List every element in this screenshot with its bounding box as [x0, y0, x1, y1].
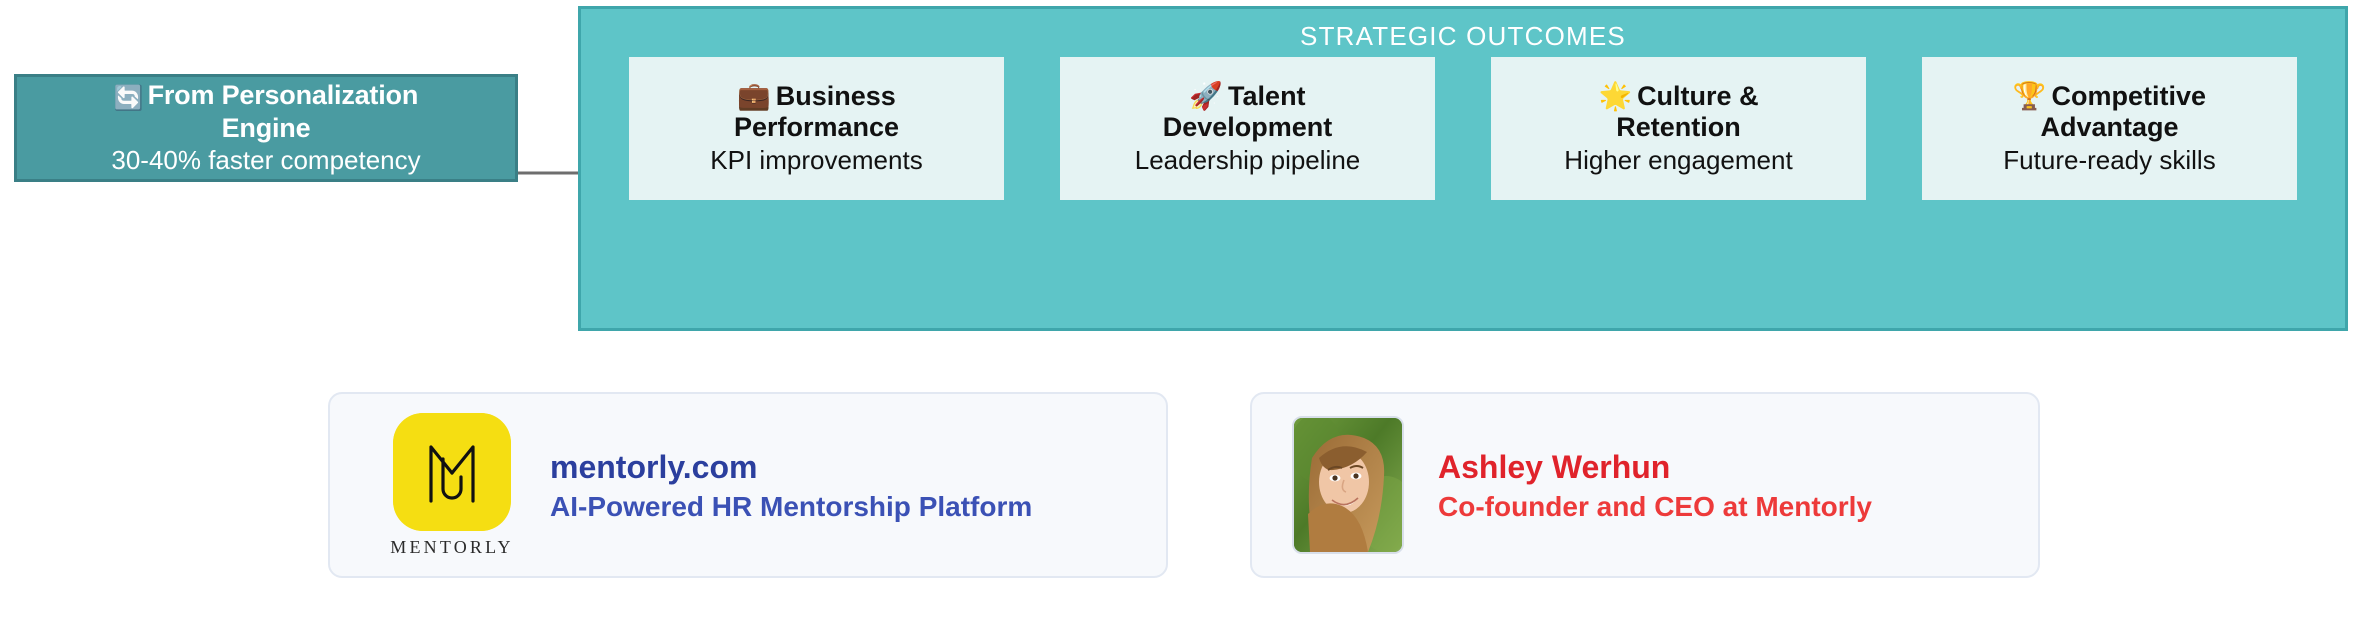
person-text-block: Ashley Werhun Co-founder and CEO at Ment… [1438, 447, 1872, 524]
outcome-card-title-line2: Performance [734, 112, 899, 143]
source-stage-title: 🔄From Personalization Engine [114, 80, 418, 143]
avatar [1292, 416, 1404, 554]
glowing-star-icon: 🌟 [1598, 81, 1632, 111]
mentorly-wordmark: MENTORLY [390, 537, 513, 558]
outcome-card-title-line2: Advantage [2013, 112, 2206, 143]
brand-tagline: AI-Powered HR Mentorship Platform [550, 489, 1032, 524]
outcome-card-title-line2: Retention [1598, 112, 1758, 143]
outcome-card-subtitle: Leadership pipeline [1135, 146, 1361, 176]
outcome-card-title-line2: Development [1163, 112, 1333, 143]
person-name: Ashley Werhun [1438, 447, 1872, 487]
person-card[interactable]: Ashley Werhun Co-founder and CEO at Ment… [1250, 392, 2040, 578]
refresh-cycle-icon: 🔄 [114, 85, 144, 112]
source-stage-subtitle: 30-40% faster competency [111, 146, 420, 176]
outcome-card-title-line1: Business [776, 81, 896, 111]
brand-text-block: mentorly.com AI-Powered HR Mentorship Pl… [550, 447, 1032, 524]
mentorly-logo: MENTORLY [388, 413, 516, 558]
brand-card[interactable]: MENTORLY mentorly.com AI-Powered HR Ment… [328, 392, 1168, 578]
outcome-card-subtitle: KPI improvements [710, 146, 922, 176]
strategic-outcomes-panel: STRATEGIC OUTCOMES 💼Business Performance… [578, 6, 2348, 331]
source-stage-box: 🔄From Personalization Engine 30-40% fast… [14, 74, 518, 182]
source-stage-title-line1: From Personalization [148, 80, 419, 110]
outcome-card-title: 🌟Culture & Retention [1598, 81, 1758, 142]
outcome-card-subtitle: Future-ready skills [2003, 146, 2215, 176]
rocket-icon: 🚀 [1189, 81, 1223, 111]
source-stage-title-line2: Engine [114, 113, 418, 143]
outcome-card-culture-retention: 🌟Culture & Retention Higher engagement [1491, 57, 1866, 200]
outcome-card-title: 💼Business Performance [734, 81, 899, 142]
avatar-image [1294, 418, 1402, 552]
outcome-card-title: 🚀Talent Development [1163, 81, 1333, 142]
brand-domain[interactable]: mentorly.com [550, 447, 1032, 487]
outcome-card-list: 💼Business Performance KPI improvements 🚀… [629, 57, 2297, 200]
outcome-card-talent-development: 🚀Talent Development Leadership pipeline [1060, 57, 1435, 200]
strategic-outcomes-title: STRATEGIC OUTCOMES [581, 21, 2345, 52]
person-role: Co-founder and CEO at Mentorly [1438, 489, 1872, 524]
outcome-card-business-performance: 💼Business Performance KPI improvements [629, 57, 1004, 200]
outcome-card-competitive-advantage: 🏆Competitive Advantage Future-ready skil… [1922, 57, 2297, 200]
outcome-card-title-line1: Competitive [2052, 81, 2207, 111]
outcomes-diagram: 🔄From Personalization Engine 30-40% fast… [0, 0, 2368, 350]
footer: MENTORLY mentorly.com AI-Powered HR Ment… [0, 392, 2368, 592]
mentorly-logo-mark [393, 413, 511, 531]
outcome-card-title: 🏆Competitive Advantage [2013, 81, 2206, 142]
briefcase-icon: 💼 [737, 81, 771, 111]
outcome-card-title-line1: Culture & [1637, 81, 1759, 111]
outcome-card-title-line1: Talent [1228, 81, 1306, 111]
trophy-icon: 🏆 [2013, 81, 2047, 111]
outcome-card-subtitle: Higher engagement [1564, 146, 1792, 176]
